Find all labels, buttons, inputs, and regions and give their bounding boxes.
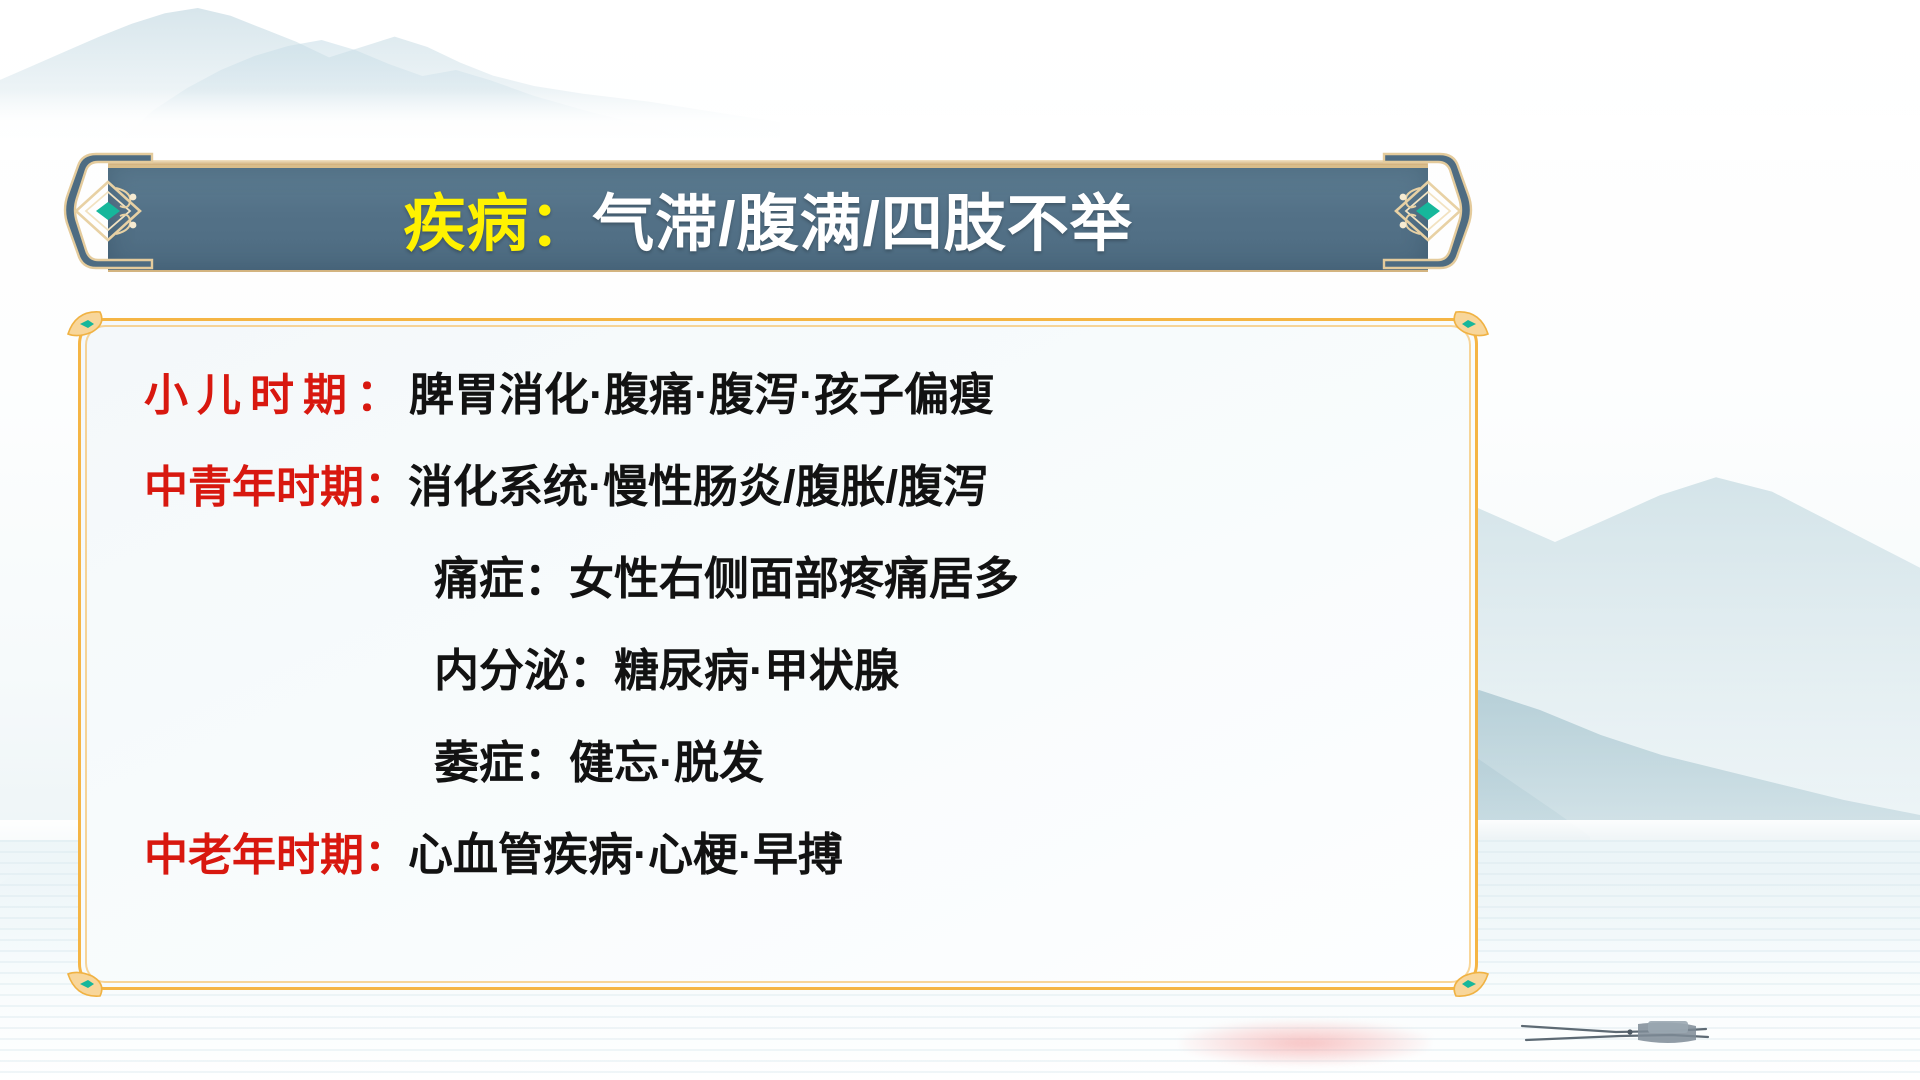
boat-icon [1520, 1012, 1720, 1050]
row-label: 小儿时期： [144, 359, 409, 423]
content-panel: 小儿时期：脾胃消化·腹痛·腹泻·孩子偏瘦中青年时期：消化系统·慢性肠炎/腹胀/腹… [78, 318, 1478, 990]
row-text: 内分泌：糖尿病·甲状腺 [434, 634, 899, 699]
gem-shape [1416, 202, 1440, 220]
content-row: 痛症：女性右侧面部疼痛居多 [144, 542, 1438, 634]
row-text: 萎症：健忘·脱发 [434, 726, 764, 791]
banner-title-main: 气滞/腹满/四肢不举 [592, 173, 1132, 263]
content-row: 萎症：健忘·脱发 [144, 726, 1438, 818]
content-row: 小儿时期：脾胃消化·腹痛·腹泻·孩子偏瘦 [144, 358, 1438, 450]
content-rows: 小儿时期：脾胃消化·腹痛·腹泻·孩子偏瘦中青年时期：消化系统·慢性肠炎/腹胀/腹… [144, 358, 1438, 910]
row-label: 中老年时期： [144, 819, 408, 883]
title-banner: 疾病： 气滞/腹满/四肢不举 [56, 148, 1480, 288]
row-label: 中青年时期： [144, 451, 408, 515]
diamond-ornament-right [1376, 148, 1480, 288]
gem-shape [96, 202, 120, 220]
row-text: 消化系统·慢性肠炎/腹胀/腹泻 [408, 450, 988, 515]
banner-title-text: 疾病： 气滞/腹满/四肢不举 [108, 164, 1428, 272]
banner-title-highlight: 疾病： [403, 173, 592, 263]
row-text: 脾胃消化·腹痛·腹泻·孩子偏瘦 [409, 358, 994, 423]
content-row: 中青年时期：消化系统·慢性肠炎/腹胀/腹泻 [144, 450, 1438, 542]
row-text: 痛症：女性右侧面部疼痛居多 [434, 542, 1019, 607]
diamond-ornament-left [56, 148, 160, 288]
content-row: 内分泌：糖尿病·甲状腺 [144, 634, 1438, 726]
content-row: 中老年时期：心血管疾病·心梗·早搏 [144, 818, 1438, 910]
water-reflection [1180, 1020, 1430, 1066]
row-text: 心血管疾病·心梗·早搏 [408, 818, 843, 883]
